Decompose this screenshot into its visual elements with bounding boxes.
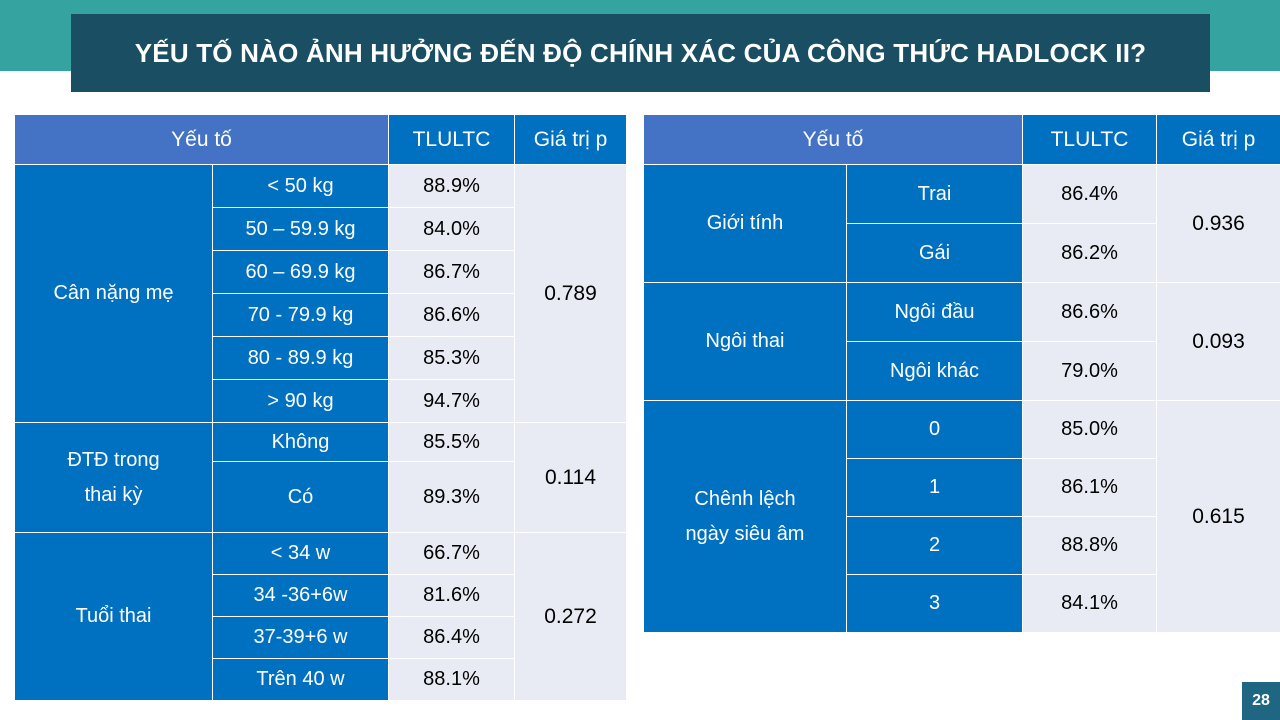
table-row: Chênh lệch ngày siêu âm 0 85.0% 0.615 (644, 401, 1280, 459)
value-cell: 86.4% (389, 617, 515, 659)
table-row: Giới tính Trai 86.4% 0.936 (644, 165, 1280, 224)
value-cell: 86.1% (1023, 459, 1157, 517)
value-cell: 86.7% (389, 251, 515, 294)
header-pvalue: Giá trị p (1157, 115, 1280, 165)
table-row: Cân nặng mẹ < 50 kg 88.9% 0.789 (15, 165, 627, 208)
value-cell: 81.6% (389, 575, 515, 617)
level-label: 34 -36+6w (213, 575, 389, 617)
results-table-right: Yếu tố TLULTC Giá trị p Giới tính Trai 8… (643, 114, 1280, 633)
page-title: YẾU TỐ NÀO ẢNH HƯỞNG ĐẾN ĐỘ CHÍNH XÁC CỦ… (135, 40, 1147, 66)
pvalue-cell: 0.789 (515, 165, 627, 423)
level-label: 37-39+6 w (213, 617, 389, 659)
header-factor: Yếu tố (15, 115, 389, 165)
results-table-left: Yếu tố TLULTC Giá trị p Cân nặng mẹ < 50… (14, 114, 627, 701)
table-row: Tuổi thai < 34 w 66.7% 0.272 (15, 533, 627, 575)
group-label-line2: ngày siêu âm (650, 517, 840, 552)
value-cell: 86.4% (1023, 165, 1157, 224)
level-label: 50 – 59.9 kg (213, 208, 389, 251)
level-label: < 34 w (213, 533, 389, 575)
level-label: Trai (847, 165, 1023, 224)
header-tlultc: TLULTC (389, 115, 515, 165)
pvalue-cell: 0.093 (1157, 283, 1280, 401)
pvalue-cell: 0.272 (515, 533, 627, 701)
value-cell: 88.8% (1023, 517, 1157, 575)
page-number-badge: 28 (1242, 682, 1280, 720)
value-cell: 79.0% (1023, 342, 1157, 401)
level-label: 0 (847, 401, 1023, 459)
group-label: Cân nặng mẹ (15, 165, 213, 423)
value-cell: 86.6% (389, 294, 515, 337)
table-header-row: Yếu tố TLULTC Giá trị p (644, 115, 1280, 165)
slide-canvas: YẾU TỐ NÀO ẢNH HƯỞNG ĐẾN ĐỘ CHÍNH XÁC CỦ… (0, 0, 1280, 720)
value-cell: 86.2% (1023, 224, 1157, 283)
value-cell: 66.7% (389, 533, 515, 575)
group-label-line1: Chênh lệch (650, 482, 840, 517)
level-label: Không (213, 423, 389, 462)
level-label: Trên 40 w (213, 659, 389, 701)
header-tlultc: TLULTC (1023, 115, 1157, 165)
level-label: 2 (847, 517, 1023, 575)
value-cell: 85.5% (389, 423, 515, 462)
group-label: ĐTĐ trong thai kỳ (15, 423, 213, 533)
pvalue-cell: 0.936 (1157, 165, 1280, 283)
pvalue-cell: 0.615 (1157, 401, 1280, 633)
group-label-line2: thai kỳ (21, 478, 206, 513)
level-label: Gái (847, 224, 1023, 283)
level-label: < 50 kg (213, 165, 389, 208)
value-cell: 84.0% (389, 208, 515, 251)
group-label-line1: ĐTĐ trong (21, 443, 206, 478)
value-cell: 85.0% (1023, 401, 1157, 459)
value-cell: 89.3% (389, 462, 515, 533)
level-label: Ngôi khác (847, 342, 1023, 401)
header-pvalue: Giá trị p (515, 115, 627, 165)
group-label: Chênh lệch ngày siêu âm (644, 401, 847, 633)
pvalue-cell: 0.114 (515, 423, 627, 533)
title-plate: YẾU TỐ NÀO ẢNH HƯỞNG ĐẾN ĐỘ CHÍNH XÁC CỦ… (71, 14, 1210, 92)
value-cell: 84.1% (1023, 575, 1157, 633)
level-label: Có (213, 462, 389, 533)
group-label: Giới tính (644, 165, 847, 283)
table-row: ĐTĐ trong thai kỳ Không 85.5% 0.114 (15, 423, 627, 462)
level-label: 1 (847, 459, 1023, 517)
value-cell: 85.3% (389, 337, 515, 380)
level-label: 3 (847, 575, 1023, 633)
level-label: > 90 kg (213, 380, 389, 423)
level-label: 70 - 79.9 kg (213, 294, 389, 337)
value-cell: 88.1% (389, 659, 515, 701)
value-cell: 86.6% (1023, 283, 1157, 342)
level-label: Ngôi đầu (847, 283, 1023, 342)
value-cell: 94.7% (389, 380, 515, 423)
level-label: 80 - 89.9 kg (213, 337, 389, 380)
table-row: Ngôi thai Ngôi đầu 86.6% 0.093 (644, 283, 1280, 342)
table-header-row: Yếu tố TLULTC Giá trị p (15, 115, 627, 165)
value-cell: 88.9% (389, 165, 515, 208)
level-label: 60 – 69.9 kg (213, 251, 389, 294)
group-label: Ngôi thai (644, 283, 847, 401)
group-label: Tuổi thai (15, 533, 213, 701)
header-factor: Yếu tố (644, 115, 1023, 165)
